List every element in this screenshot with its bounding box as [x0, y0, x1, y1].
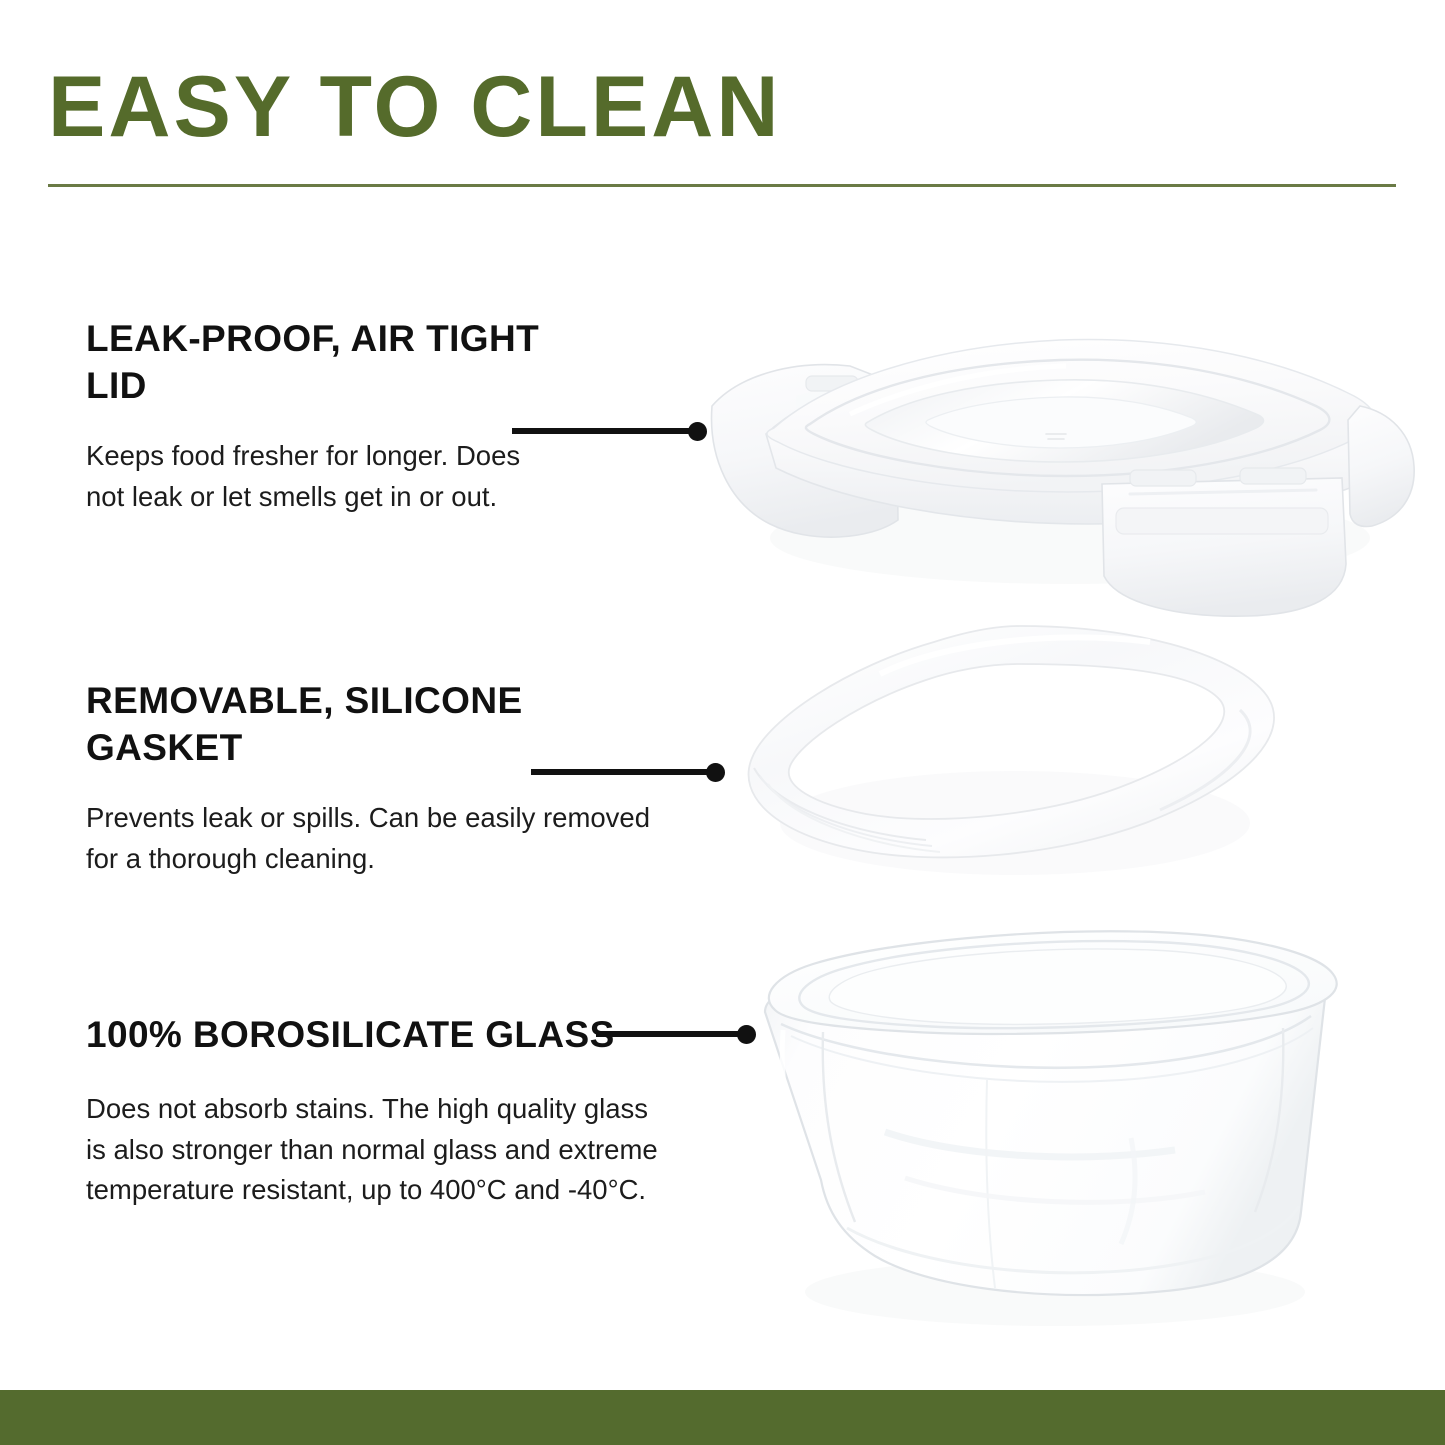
- infographic-page: EASY TO CLEAN LEAK-PROOF, AIR TIGHT LID …: [0, 0, 1445, 1445]
- lid-front-clip-hinge-right: [1240, 468, 1306, 484]
- feature-heading: LEAK-PROOF, AIR TIGHT LID: [86, 316, 556, 410]
- page-title: EASY TO CLEAN: [48, 62, 782, 152]
- footer-accent-bar: [0, 1390, 1445, 1445]
- lid-front-clip-hinge-left: [1130, 470, 1196, 486]
- callout-line-gasket: [531, 769, 712, 775]
- feature-body: Keeps food fresher for longer. Does not …: [86, 436, 556, 517]
- callout-dot-gasket: [706, 763, 725, 782]
- lid-right-clip: [1348, 406, 1414, 527]
- product-image-lid: [700, 288, 1420, 618]
- feature-body: Does not absorb stains. The high quality…: [86, 1089, 666, 1211]
- lid-front-clip: [1102, 478, 1346, 616]
- feature-block-removable-silicone-gasket: REMOVABLE, SILICONE GASKET Prevents leak…: [86, 678, 686, 879]
- lid-front-clip-grip: [1116, 508, 1328, 534]
- feature-block-leak-proof-air-tight-lid: LEAK-PROOF, AIR TIGHT LID Keeps food fre…: [86, 316, 556, 517]
- feature-heading: 100% BOROSILICATE GLASS: [86, 1012, 666, 1059]
- product-image-glass-container: [735, 912, 1355, 1332]
- product-image-gasket: [730, 618, 1290, 903]
- callout-line-glass: [596, 1031, 743, 1037]
- feature-heading: REMOVABLE, SILICONE GASKET: [86, 678, 686, 772]
- callout-line-lid: [512, 428, 694, 434]
- feature-body: Prevents leak or spills. Can be easily r…: [86, 798, 686, 879]
- feature-block-borosilicate-glass: 100% BOROSILICATE GLASS Does not absorb …: [86, 1012, 666, 1211]
- title-divider: [48, 184, 1396, 187]
